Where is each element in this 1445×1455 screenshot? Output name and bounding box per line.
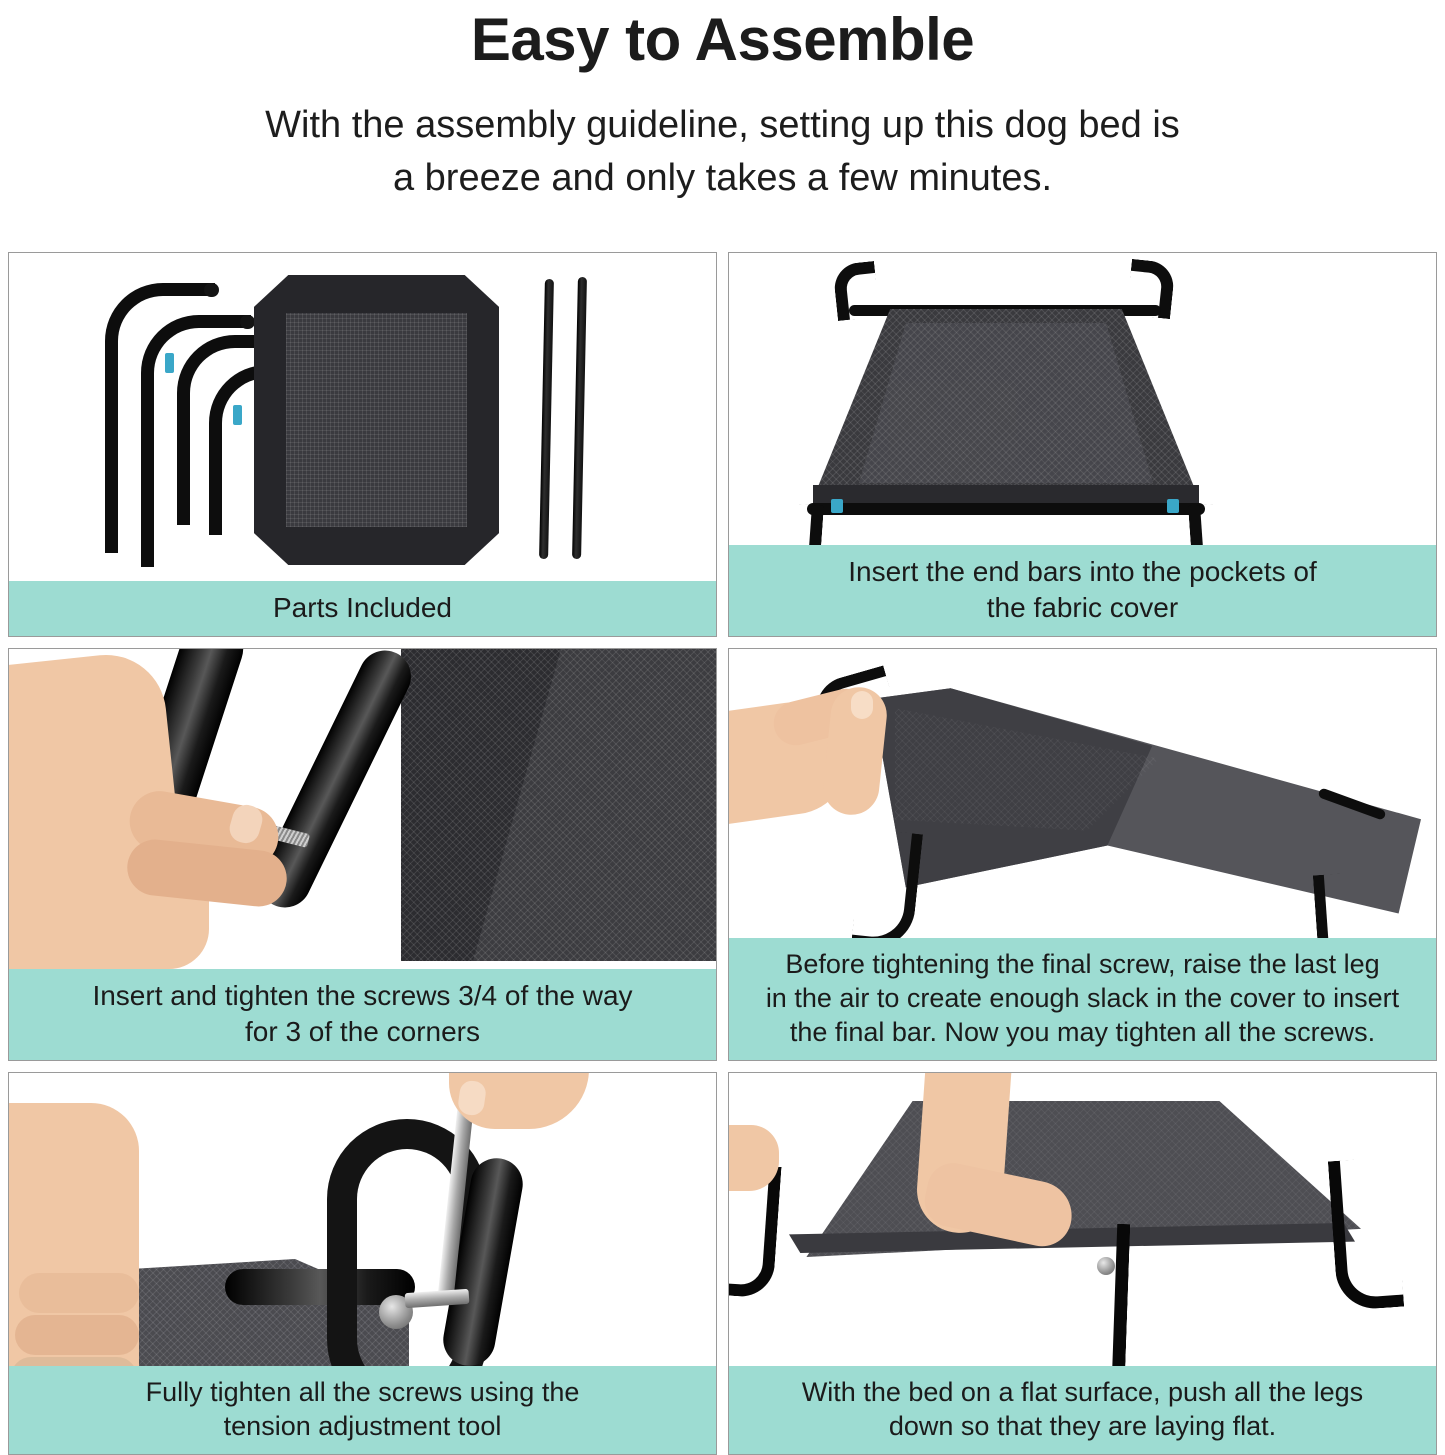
step-6-illustration (729, 1073, 1436, 1366)
leg-sticker (831, 499, 843, 513)
caption-line: With the bed on a flat surface, push all… (743, 1375, 1422, 1409)
step-4-illustration (729, 649, 1436, 938)
step-panel-2: Insert the end bars into the pockets of … (728, 252, 1437, 637)
step-panel-5: Fully tighten all the screws using the t… (8, 1072, 717, 1455)
finger (15, 1315, 139, 1355)
header-subtitle-line-1: With the assembly guideline, setting up … (0, 99, 1445, 151)
straight-end-bar-part (572, 277, 587, 559)
leg-sticker (165, 353, 174, 373)
step-5-caption: Fully tighten all the screws using the t… (9, 1366, 716, 1454)
far-leg (1313, 871, 1387, 938)
header-subtitle-line-2: a breeze and only takes a few minutes. (0, 152, 1445, 204)
straight-end-bar-part (539, 279, 554, 559)
step-panel-3: Insert and tighten the screws 3/4 of the… (8, 648, 717, 1061)
caption-line: Insert and tighten the screws 3/4 of the… (23, 978, 702, 1013)
frame-front-rail (807, 503, 1205, 515)
caption-line: Before tightening the final screw, raise… (743, 947, 1422, 981)
caption-line: Fully tighten all the screws using the (23, 1375, 702, 1409)
finger (11, 1357, 137, 1366)
step-2-illustration (729, 253, 1436, 545)
steps-grid: Parts Included (8, 252, 1437, 1433)
step-2-caption: Insert the end bars into the pockets of … (729, 545, 1436, 636)
step-panel-6: With the bed on a flat surface, push all… (728, 1072, 1437, 1455)
corner-bolt (1097, 1257, 1115, 1275)
caption-line: the fabric cover (743, 590, 1422, 625)
step-3-caption: Insert and tighten the screws 3/4 of the… (9, 969, 716, 1060)
header: Easy to Assemble With the assembly guide… (0, 0, 1445, 204)
step-5-illustration (9, 1073, 716, 1366)
step-panel-1: Parts Included (8, 252, 717, 637)
leg-sticker (233, 405, 242, 425)
caption-line: tension adjustment tool (23, 1409, 702, 1443)
frame-front-leg-right (1188, 500, 1272, 545)
step-6-caption: With the bed on a flat surface, push all… (729, 1366, 1436, 1454)
page-title: Easy to Assemble (0, 6, 1445, 73)
frame-front-leg-left (740, 500, 824, 545)
caption-line: the final bar. Now you may tighten all t… (743, 1015, 1422, 1049)
fabric-cover-mesh (286, 313, 467, 528)
header-subtitle: With the assembly guideline, setting up … (0, 99, 1445, 204)
caption-line: Parts Included (23, 590, 702, 625)
caption-line: for 3 of the corners (23, 1014, 702, 1049)
leg-sticker (1167, 499, 1179, 513)
caption-line: Insert the end bars into the pockets of (743, 554, 1422, 589)
step-panel-4: Before tightening the final screw, raise… (728, 648, 1437, 1061)
step-1-illustration (9, 253, 716, 581)
standing-leg (851, 828, 923, 938)
step-4-caption: Before tightening the final screw, raise… (729, 938, 1436, 1060)
step-3-illustration (9, 649, 716, 969)
caption-line: in the air to create enough slack in the… (743, 981, 1422, 1015)
step-1-caption: Parts Included (9, 581, 716, 636)
fingernail (851, 691, 873, 719)
infographic-page: Easy to Assemble With the assembly guide… (0, 0, 1445, 1433)
bed-leg-rear-right (1328, 1157, 1404, 1311)
finger (19, 1273, 139, 1313)
bed-leg-front-right (1056, 1222, 1131, 1366)
caption-line: down so that they are laying flat. (743, 1409, 1422, 1443)
bed-mesh-inner (859, 323, 1153, 483)
fabric-cover-part (254, 275, 499, 565)
